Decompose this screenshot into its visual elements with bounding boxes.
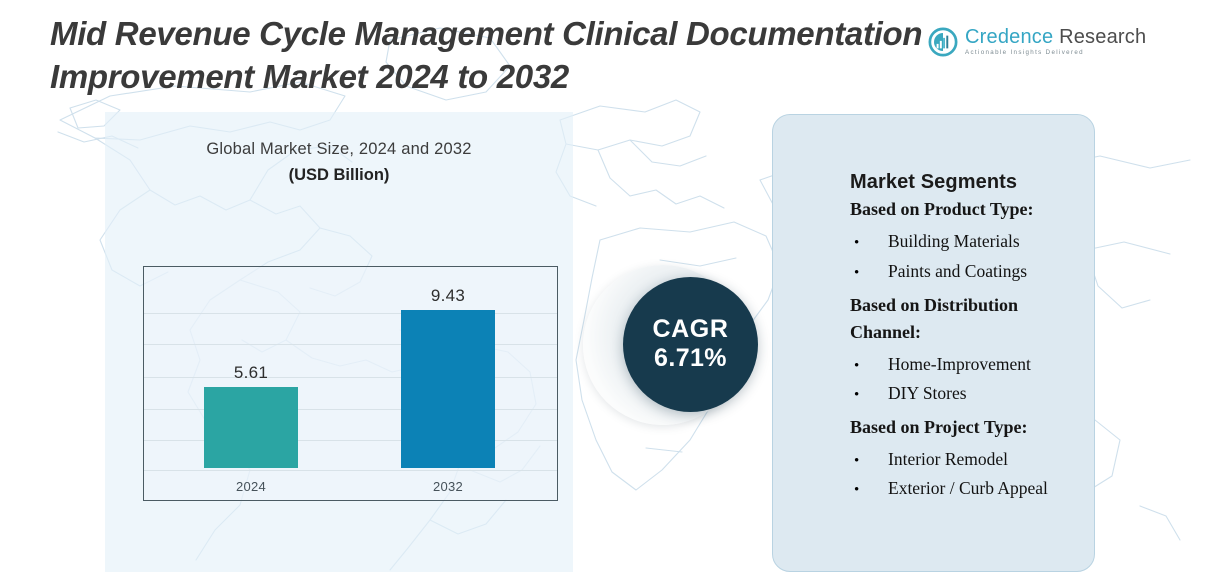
bullet-icon: • [854,231,888,256]
logo-tagline: Actionable Insights Delivered [965,50,1146,56]
bar-2024[interactable] [204,387,298,468]
bar-chart-circle-icon [928,27,958,57]
bullet-icon: • [854,383,888,408]
list-item-label: Paints and Coatings [888,257,1027,286]
bullet-icon: • [854,261,888,286]
bar-category-2024: 2024 [191,479,311,494]
bar-chart: 5.61 9.43 2024 2032 [143,266,558,501]
segment-group-subheading-distribution-channel: Based on Distribution Channel: [850,292,1090,346]
bar-2032[interactable] [401,310,495,468]
chart-title-line1: Global Market Size, 2024 and 2032 [105,140,573,159]
market-segments-content: Market Segments Based on Product Type: •… [850,170,1090,510]
list-item-label: Home-Improvement [888,350,1031,379]
bullet-icon: • [854,354,888,379]
chart-title-units: (USD Billion) [105,166,573,185]
list-item-label: Exterior / Curb Appeal [888,474,1048,503]
bar-category-2032: 2032 [388,479,508,494]
segment-list-product-type: •Building Materials •Paints and Coatings [850,227,1090,285]
chart-plot-area: 5.61 9.43 2024 2032 [144,267,557,500]
cagr-value: 6.71% [654,344,727,373]
segment-list-project-type: •Interior Remodel •Exterior / Curb Appea… [850,445,1090,503]
page-title: Mid Revenue Cycle Management Clinical Do… [50,12,950,98]
bullet-icon: • [854,449,888,474]
list-item[interactable]: •Paints and Coatings [854,257,1090,286]
header: Mid Revenue Cycle Management Clinical Do… [0,0,1227,108]
segments-heading: Market Segments [850,170,1090,194]
cagr-badge: CAGR 6.71% [583,265,783,425]
list-item-label: Building Materials [888,227,1020,256]
cagr-circle: CAGR 6.71% [623,277,758,412]
logo-name-primary: Credence [965,26,1053,48]
logo-name-secondary: Research [1053,26,1146,48]
logo-name: Credence Research [965,27,1146,47]
bar-value-2024: 5.61 [191,363,311,383]
cagr-label: CAGR [652,316,728,342]
list-item[interactable]: •DIY Stores [854,379,1090,408]
chart-title-block: Global Market Size, 2024 and 2032 (USD B… [105,140,573,185]
segment-group-subheading-project-type: Based on Project Type: [850,414,1090,441]
segment-group-subheading-product-type: Based on Product Type: [850,196,1090,223]
segment-list-distribution-channel: •Home-Improvement •DIY Stores [850,350,1090,408]
list-item[interactable]: •Exterior / Curb Appeal [854,474,1090,503]
bullet-icon: • [854,478,888,503]
bar-value-2032: 9.43 [388,286,508,306]
logo-text-block: Credence Research Actionable Insights De… [965,27,1146,56]
list-item-label: DIY Stores [888,379,967,408]
list-item[interactable]: •Home-Improvement [854,350,1090,379]
brand-logo[interactable]: Credence Research Actionable Insights De… [928,27,1146,57]
list-item[interactable]: •Interior Remodel [854,445,1090,474]
list-item-label: Interior Remodel [888,445,1008,474]
list-item[interactable]: •Building Materials [854,227,1090,256]
